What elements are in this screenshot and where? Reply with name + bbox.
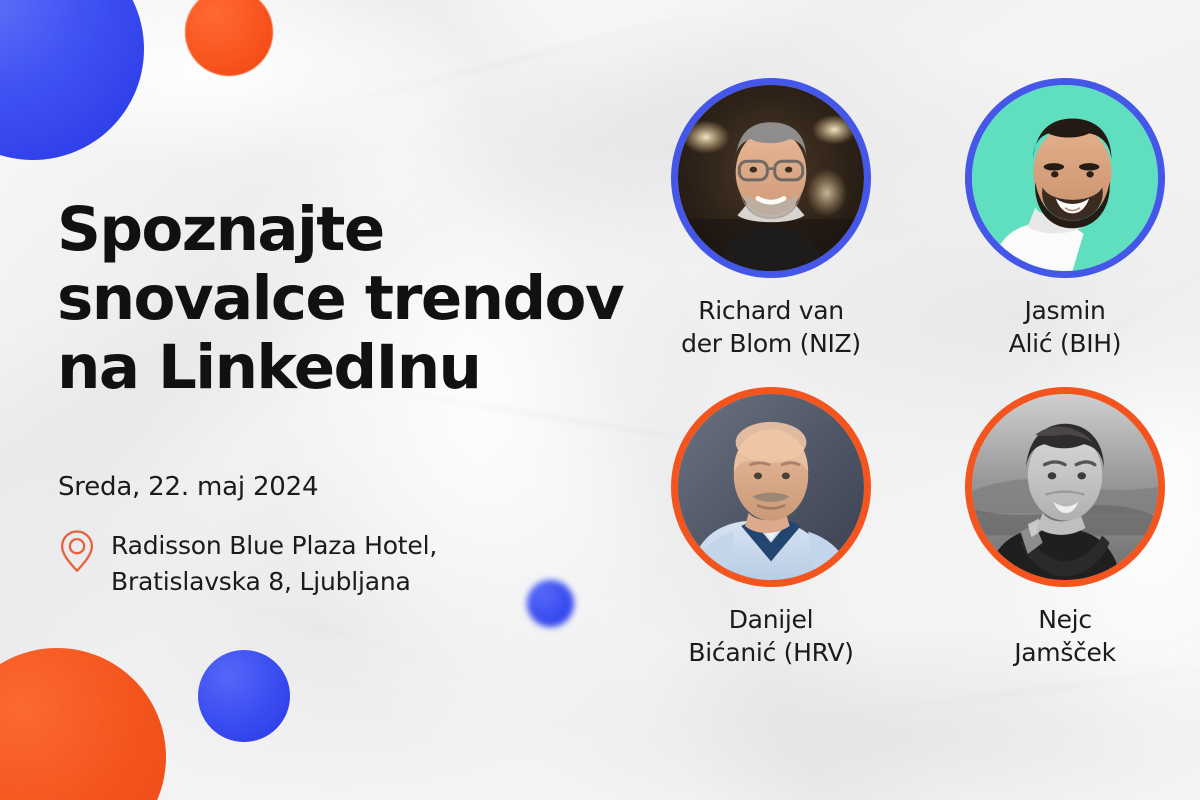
venue-address: Radisson Blue Plaza Hotel, Bratislavska …	[111, 526, 437, 599]
speaker-card: Danijel Bićanić (HRV)	[648, 387, 894, 670]
avatar	[671, 387, 871, 587]
speaker-name: Richard van der Blom (NIZ)	[681, 294, 861, 361]
poster-text-column: Spoznajte snovalce trendov na LinkedInu …	[57, 196, 657, 403]
avatar	[671, 78, 871, 278]
speaker-photo-danijel	[678, 394, 864, 580]
speaker-photo-jasmin	[972, 85, 1158, 271]
speaker-card: Richard van der Blom (NIZ)	[648, 78, 894, 361]
avatar	[965, 387, 1165, 587]
decorative-circle-orange-bottom-left	[0, 648, 166, 800]
speakers-grid: Richard van der Blom (NIZ)	[648, 78, 1188, 669]
speaker-name: Jasmin Alić (BIH)	[1009, 294, 1122, 361]
decorative-circle-blue-bottom-left	[198, 650, 290, 742]
speaker-name: Nejc Jamšček	[1014, 603, 1116, 670]
event-date: Sreda, 22. maj 2024	[58, 472, 318, 502]
map-pin-icon	[57, 528, 97, 580]
decorative-circle-blue-top-left	[0, 0, 144, 160]
decorative-circle-blue-center	[527, 580, 574, 627]
paper-crease	[821, 664, 1200, 718]
speaker-card: Jasmin Alić (BIH)	[942, 78, 1188, 361]
page-title: Spoznajte snovalce trendov na LinkedInu	[57, 196, 657, 403]
speaker-photo-nejc	[972, 394, 1158, 580]
speaker-name: Danijel Bićanić (HRV)	[688, 603, 853, 670]
avatar	[965, 78, 1165, 278]
venue-row: Radisson Blue Plaza Hotel, Bratislavska …	[57, 526, 437, 599]
event-poster: Spoznajte snovalce trendov na LinkedInu …	[0, 0, 1200, 800]
speaker-photo-richard	[678, 85, 864, 271]
speaker-card: Nejc Jamšček	[942, 387, 1188, 670]
decorative-circle-orange-top	[185, 0, 273, 76]
